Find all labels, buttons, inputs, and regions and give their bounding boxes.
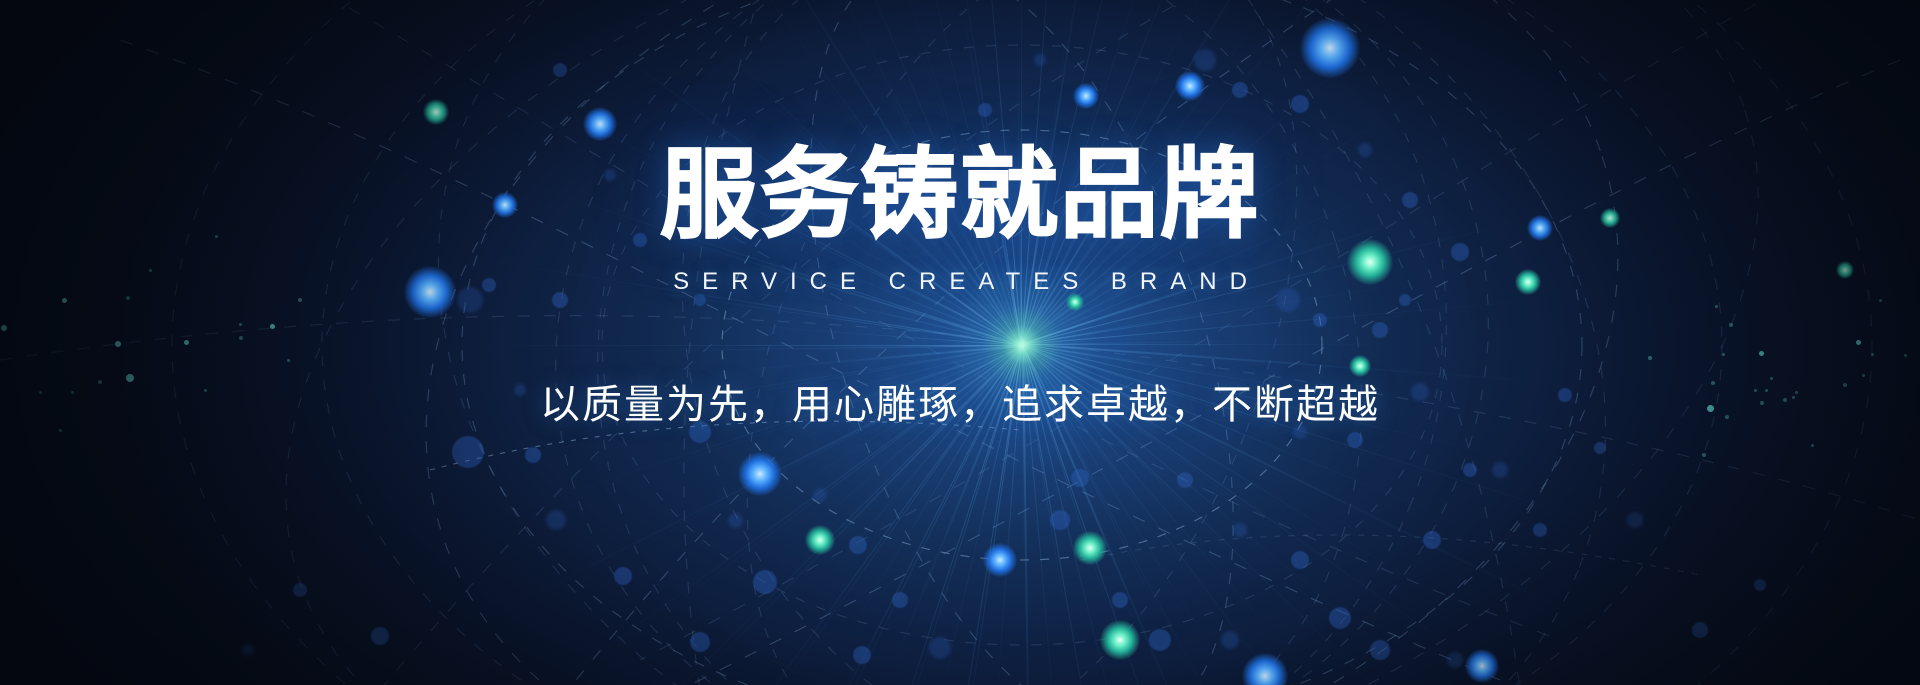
decor-dot [553, 63, 567, 77]
tagline-chinese: 以质量为先，用心雕琢，追求卓越，不断超越 [0, 372, 1920, 430]
decor-dot [1492, 462, 1508, 478]
decor-dot [293, 583, 307, 597]
decor-dot [690, 632, 710, 652]
decor-dot [1533, 523, 1547, 537]
decor-dot [1463, 463, 1477, 477]
subtitle-english: SERVICE CREATES BRAND [0, 268, 1920, 296]
decor-dot [1904, 354, 1907, 357]
decor-dot [242, 644, 254, 656]
decor-dot [1879, 299, 1882, 302]
decor-dot [1648, 356, 1652, 360]
decor-dot [1715, 305, 1718, 308]
page-title: 服务铸就品牌 [0, 142, 1920, 248]
decor-dot [298, 298, 302, 302]
decor-dot [1692, 622, 1708, 638]
decor-dot [239, 323, 242, 326]
decor-dot [525, 447, 541, 463]
decor-dot [1729, 323, 1733, 327]
decor-dot [1594, 442, 1606, 454]
decor-dot [1702, 453, 1706, 457]
decor-dot [1722, 353, 1725, 356]
decor-dot [287, 359, 290, 362]
decor-dot [371, 627, 389, 645]
decor-dot [126, 296, 130, 300]
decor-dot [1, 325, 7, 331]
decor-dot [614, 567, 632, 585]
decor-dot [270, 324, 275, 329]
decor-dot [423, 99, 449, 125]
hero-banner: 服务铸就品牌 SERVICE CREATES BRAND 以质量为先，用心雕琢，… [0, 0, 1920, 685]
decor-dot [452, 436, 484, 468]
decor-dot [62, 298, 67, 303]
decor-dot [546, 510, 566, 530]
decor-dot [1759, 351, 1764, 356]
decor-dot [1871, 353, 1874, 356]
decor-dot [115, 341, 121, 347]
decor-dot [1754, 579, 1766, 591]
decor-dot [1811, 444, 1814, 447]
decor-dot [1856, 340, 1861, 345]
light-burst-core [892, 215, 1152, 475]
decor-dot [184, 340, 189, 345]
decor-dot [427, 103, 445, 121]
decor-dot [239, 336, 243, 340]
decor-dot [1627, 512, 1643, 528]
decor-dot [1370, 640, 1390, 660]
